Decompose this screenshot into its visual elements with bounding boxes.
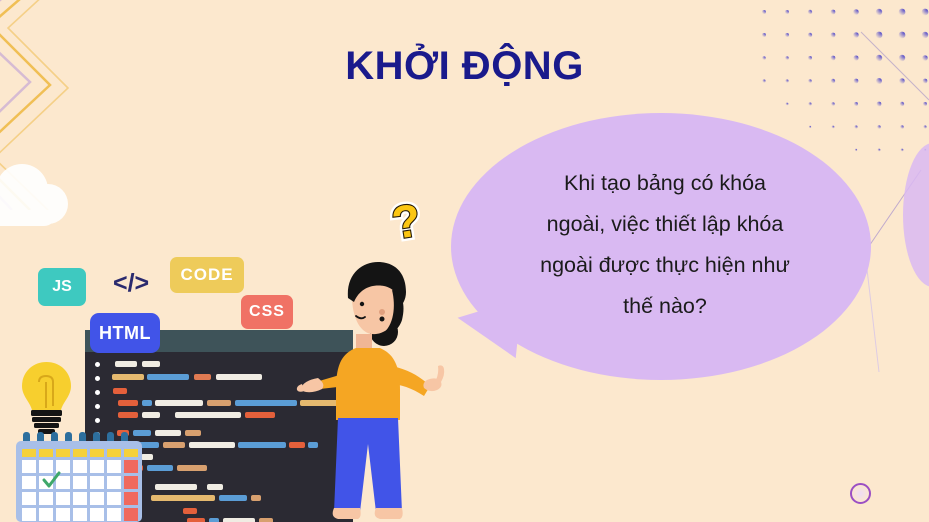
character-illustration bbox=[296, 250, 466, 522]
purple-edge-blob bbox=[899, 140, 929, 290]
code-line bbox=[219, 495, 247, 501]
code-line bbox=[142, 361, 160, 367]
speech-bubble-line: ngoài được thực hiện như bbox=[499, 245, 831, 286]
badge-css-label: CSS bbox=[249, 303, 285, 321]
speech-bubble-line: thế nào? bbox=[499, 286, 831, 327]
speech-bubble-line: ngoài, việc thiết lập khóa bbox=[499, 204, 831, 245]
code-line bbox=[189, 442, 235, 448]
code-line bbox=[183, 508, 197, 514]
badge-html-label: HTML bbox=[99, 323, 151, 344]
gutter-dot bbox=[95, 404, 100, 409]
code-line bbox=[245, 412, 275, 418]
code-line bbox=[187, 518, 205, 522]
badge-html[interactable]: HTML bbox=[90, 313, 160, 353]
zigzag-decoration bbox=[0, 0, 120, 210]
code-line bbox=[151, 495, 215, 501]
code-line bbox=[259, 518, 273, 522]
speech-bubble-text: Khi tạo bảng có khóa ngoài, việc thiết l… bbox=[499, 163, 831, 327]
badge-js-label: JS bbox=[52, 278, 72, 296]
gutter-dot bbox=[95, 376, 100, 381]
code-line bbox=[177, 465, 207, 471]
code-line bbox=[155, 400, 203, 406]
code-tag-icon: </> bbox=[113, 269, 149, 298]
code-line bbox=[118, 400, 138, 406]
badge-code-label: CODE bbox=[180, 265, 233, 285]
code-line bbox=[207, 400, 231, 406]
code-line bbox=[207, 484, 223, 490]
badge-code[interactable]: CODE bbox=[170, 257, 244, 293]
page-title: KHỞI ĐỘNG bbox=[0, 44, 929, 89]
code-line bbox=[155, 484, 197, 490]
code-line bbox=[251, 495, 261, 501]
code-line bbox=[209, 518, 219, 522]
cloud-decoration bbox=[0, 160, 86, 230]
code-line bbox=[216, 374, 262, 380]
svg-text:?: ? bbox=[388, 197, 424, 249]
code-line bbox=[194, 374, 211, 380]
gutter-dot bbox=[95, 418, 100, 423]
gutter-dot bbox=[95, 362, 100, 367]
code-line bbox=[113, 388, 127, 394]
code-line bbox=[118, 412, 138, 418]
code-line bbox=[163, 442, 185, 448]
calendar-illustration bbox=[14, 432, 144, 522]
code-line bbox=[155, 430, 181, 436]
question-mark-icon: ? ? bbox=[383, 197, 431, 255]
code-line bbox=[223, 518, 255, 522]
gutter-dot bbox=[95, 390, 100, 395]
badge-js[interactable]: JS bbox=[38, 268, 86, 306]
code-line bbox=[142, 400, 152, 406]
code-line bbox=[147, 374, 189, 380]
code-line bbox=[142, 412, 160, 418]
circle-outline-decoration bbox=[850, 483, 871, 504]
badge-css[interactable]: CSS bbox=[241, 295, 293, 329]
code-line bbox=[115, 361, 137, 367]
lightbulb-icon bbox=[19, 360, 74, 438]
speech-bubble-line: Khi tạo bảng có khóa bbox=[499, 163, 831, 204]
slide-canvas: KHỞI ĐỘNG Khi tạo bảng có khóa ngoài, vi… bbox=[0, 0, 929, 522]
code-line bbox=[175, 412, 241, 418]
code-line bbox=[112, 374, 144, 380]
code-line bbox=[238, 442, 286, 448]
code-line bbox=[147, 465, 173, 471]
code-line bbox=[185, 430, 201, 436]
speech-bubble: Khi tạo bảng có khóa ngoài, việc thiết l… bbox=[451, 113, 871, 380]
code-line bbox=[235, 400, 297, 406]
